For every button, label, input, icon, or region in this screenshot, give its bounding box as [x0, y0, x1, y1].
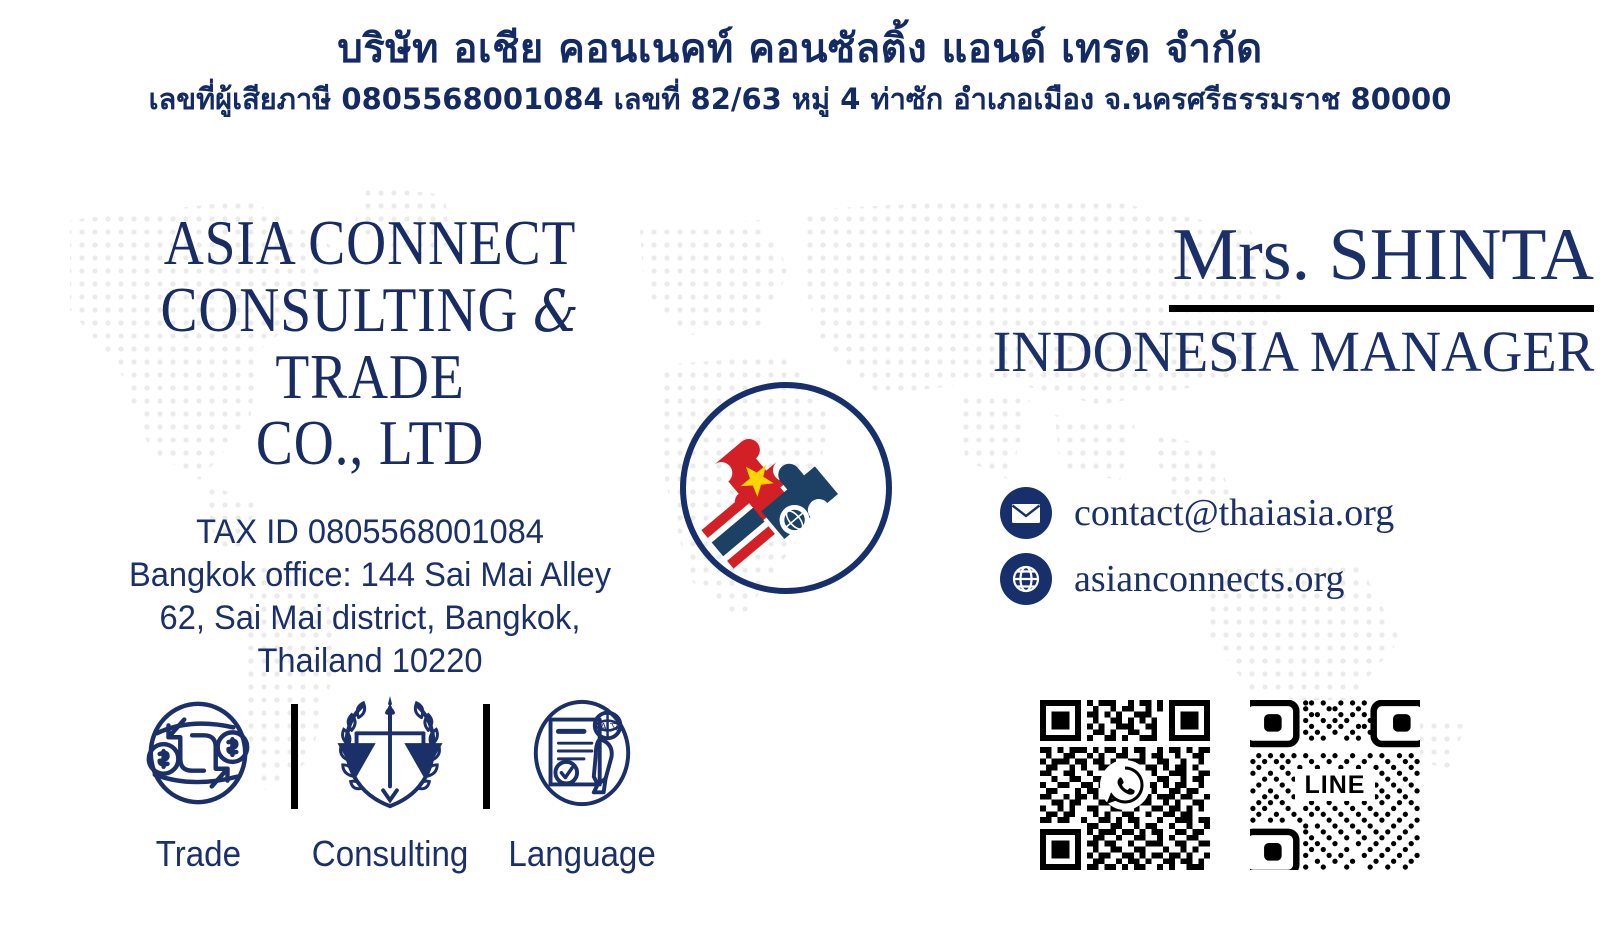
whatsapp-qr-code[interactable]: [1040, 700, 1210, 870]
address-line-2: 62, Sai Mai district, Bangkok,: [53, 597, 687, 640]
header-company-thai: บริษัท อเชีย คอนเนคท์ คอนซัลติ้ง แอนด์ เ…: [0, 24, 1600, 74]
company-name-line-2: CONSULTING & TRADE: [80, 277, 661, 411]
contact-website-text[interactable]: asianconnects.org: [1074, 557, 1345, 601]
line-wordmark: LINE: [1295, 769, 1375, 801]
header-taxid-address-thai: เลขที่ผู้เสียภาษี 0805568001084 เลขที่ 8…: [0, 78, 1600, 122]
service-trade: Trade: [106, 690, 291, 875]
whatsapp-icon: [1100, 760, 1150, 810]
envelope-icon: [1000, 487, 1052, 539]
company-name-line-3: CO., LTD: [80, 410, 661, 477]
contact-email-row[interactable]: contact@thaiasia.org: [1000, 487, 1394, 539]
card-header: บริษัท อเชีย คอนเนคท์ คอนซัลติ้ง แอนด์ เ…: [0, 24, 1600, 122]
globe-exchange-dollar-icon: [139, 690, 257, 815]
name-divider-rule: [1169, 305, 1594, 312]
address-line-3: Thailand 10220: [53, 640, 687, 683]
globe-icon: [1000, 553, 1052, 605]
address-line-taxid: TAX ID 0805568001084: [53, 511, 687, 554]
services-row: Trade: [40, 690, 740, 875]
service-language: A 文 Language: [490, 690, 675, 875]
service-divider-2: [483, 704, 490, 809]
qr-code-group: LINE: [1040, 700, 1420, 870]
svg-text:文: 文: [610, 719, 621, 733]
contact-website-row[interactable]: asianconnects.org: [1000, 553, 1394, 605]
service-label-consulting: Consulting: [312, 833, 469, 875]
asia-connect-puzzle-logo: [676, 378, 896, 598]
address-line-1: Bangkok office: 144 Sai Mai Alley: [53, 554, 687, 597]
company-name-line-1: ASIA CONNECT: [80, 210, 661, 277]
company-name-consulting: CONSULTING: [161, 275, 519, 345]
person-title: INDONESIA MANAGER: [993, 322, 1594, 383]
svg-text:A: A: [600, 721, 608, 733]
company-name-trade: TRADE: [275, 342, 464, 412]
line-qr-code[interactable]: LINE: [1250, 700, 1420, 870]
service-label-trade: Trade: [155, 833, 240, 875]
company-name: ASIA CONNECT CONSULTING & TRADE CO., LTD: [80, 210, 661, 477]
company-address: TAX ID 0805568001084 Bangkok office: 144…: [53, 511, 687, 682]
company-block: ASIA CONNECT CONSULTING & TRADE CO., LTD…: [40, 210, 700, 682]
certificate-document-icon: A 文: [523, 690, 641, 815]
business-card: บริษัท อเชีย คอนเนคท์ คอนซัลติ้ง แอนด์ เ…: [0, 0, 1600, 941]
ampersand-glyph: &: [533, 277, 579, 345]
service-label-language: Language: [508, 833, 655, 875]
scales-laurel-icon: [331, 690, 449, 815]
contact-list: contact@thaiasia.org asianconnects.org: [1000, 487, 1394, 605]
service-consulting: Consulting: [298, 690, 483, 875]
service-divider-1: [291, 704, 298, 809]
person-name: Mrs. SHINTA: [974, 218, 1594, 293]
contact-email-text[interactable]: contact@thaiasia.org: [1074, 491, 1394, 535]
person-block: Mrs. SHINTA INDONESIA MANAGER: [974, 218, 1594, 383]
